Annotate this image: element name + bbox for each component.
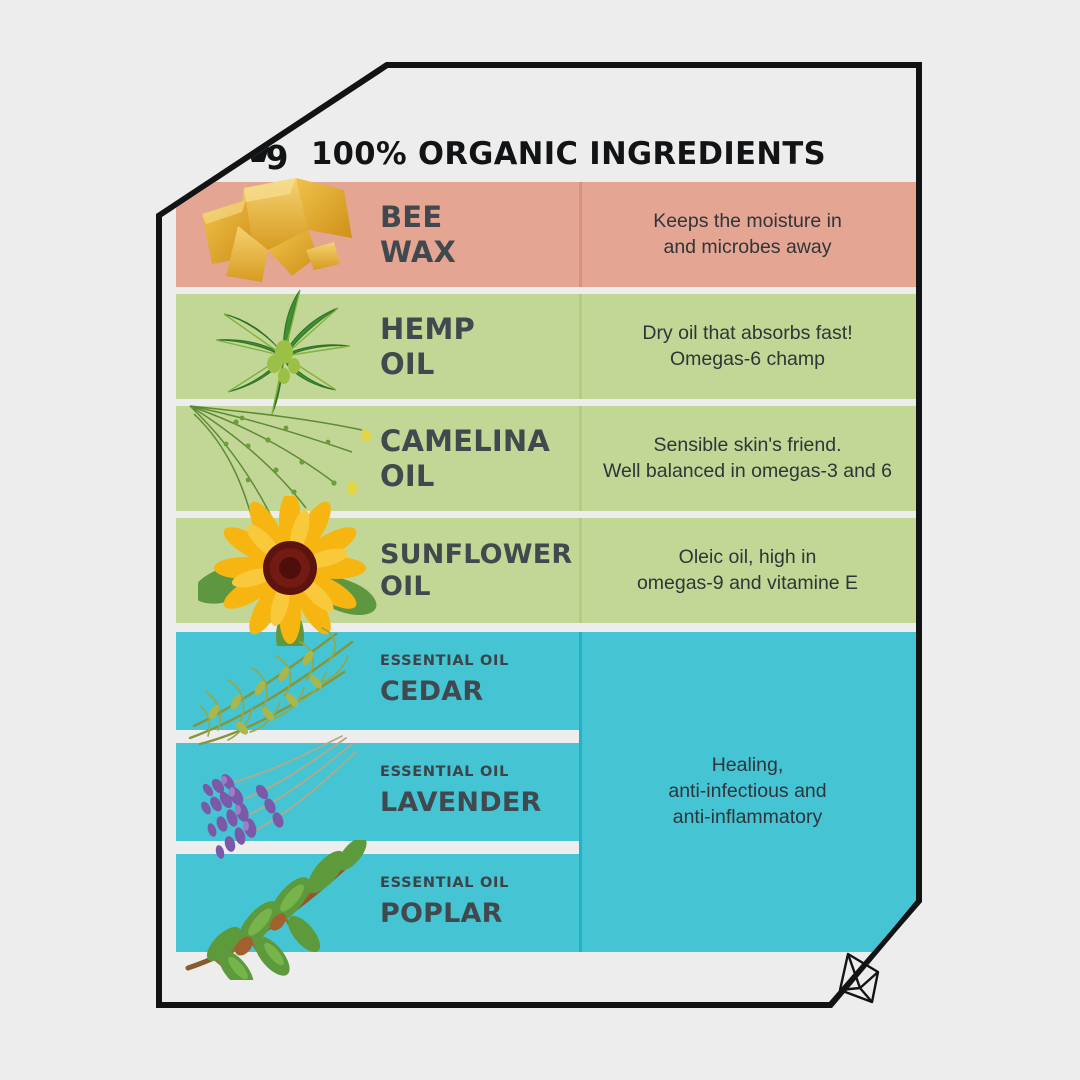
cedar-name-cell: ESSENTIAL OIL CEDAR bbox=[176, 632, 579, 730]
sunflower-oil-name-cell: SUNFLOWER OIL bbox=[176, 518, 579, 623]
bee-wax-label: BEE WAX bbox=[380, 200, 456, 268]
poplar-eyebrow: ESSENTIAL OIL bbox=[380, 876, 509, 891]
column-divider bbox=[579, 518, 582, 623]
column-divider bbox=[579, 182, 582, 287]
camelina-oil-label-line1: CAMELINA bbox=[380, 424, 550, 458]
hemp-oil-label-line1: HEMP bbox=[380, 312, 475, 346]
essential-oils-desc-line3: anti-inflammatory bbox=[668, 805, 826, 831]
bee-wax-label-line1: BEE bbox=[380, 200, 456, 234]
gem-polyhedron-logo bbox=[832, 950, 886, 1008]
hemp-oil-label-line2: OIL bbox=[380, 347, 475, 381]
hemp-oil-desc-line2: Omegas-6 champ bbox=[642, 347, 852, 373]
infographic-canvas: V 9 100% ORGANIC INGREDIENTS BEE WAX Kee… bbox=[0, 0, 1080, 1080]
cedar-label-group: ESSENTIAL OIL CEDAR bbox=[380, 654, 509, 707]
column-divider bbox=[579, 294, 582, 399]
lavender-eyebrow: ESSENTIAL OIL bbox=[380, 765, 541, 780]
cedar-eyebrow: ESSENTIAL OIL bbox=[380, 654, 509, 669]
camelina-oil-desc-cell: Sensible skin's friend. Well balanced in… bbox=[579, 406, 916, 511]
ingredient-row-cedar: ESSENTIAL OIL CEDAR bbox=[176, 632, 579, 730]
ingredient-row-camelina-oil: CAMELINA OIL Sensible skin's friend. Wel… bbox=[176, 406, 916, 511]
hemp-oil-desc-line1: Dry oil that absorbs fast! bbox=[642, 321, 852, 347]
ingredient-row-lavender: ESSENTIAL OIL LAVENDER bbox=[176, 743, 579, 841]
ingredients-card: V 9 100% ORGANIC INGREDIENTS BEE WAX Kee… bbox=[156, 62, 922, 1008]
ingredient-row-hemp-oil: HEMP OIL Dry oil that absorbs fast! Omeg… bbox=[176, 294, 916, 399]
bee-wax-label-line2: WAX bbox=[380, 235, 456, 269]
hemp-oil-label: HEMP OIL bbox=[380, 312, 475, 380]
hemp-oil-desc-cell: Dry oil that absorbs fast! Omegas-6 cham… bbox=[579, 294, 916, 399]
camelina-oil-description: Sensible skin's friend. Well balanced in… bbox=[603, 433, 892, 484]
essential-oils-description-panel: Healing, anti-infectious and anti-inflam… bbox=[579, 632, 916, 952]
bee-wax-name-cell: BEE WAX bbox=[176, 182, 579, 287]
poplar-label-group: ESSENTIAL OIL POPLAR bbox=[380, 876, 509, 929]
hemp-oil-name-cell: HEMP OIL bbox=[176, 294, 579, 399]
sunflower-oil-description: Oleic oil, high in omegas-9 and vitamine… bbox=[637, 545, 858, 596]
camelina-oil-label-line2: OIL bbox=[380, 459, 550, 493]
poplar-label: POPLAR bbox=[380, 898, 509, 930]
cedar-label: CEDAR bbox=[380, 676, 509, 708]
essential-oils-desc-line1: Healing, bbox=[668, 753, 826, 779]
ingredient-row-bee-wax: BEE WAX Keeps the moisture in and microb… bbox=[176, 182, 916, 287]
bee-wax-desc-cell: Keeps the moisture in and microbes away bbox=[579, 182, 916, 287]
sunflower-oil-label-line2: OIL bbox=[380, 571, 572, 603]
essential-oils-desc-line2: anti-infectious and bbox=[668, 779, 826, 805]
card-surface: V 9 100% ORGANIC INGREDIENTS BEE WAX Kee… bbox=[162, 68, 916, 1002]
column-divider bbox=[579, 632, 582, 952]
ingredient-row-poplar: ESSENTIAL OIL POPLAR bbox=[176, 854, 579, 952]
lavender-label: LAVENDER bbox=[380, 787, 541, 819]
hemp-oil-description: Dry oil that absorbs fast! Omegas-6 cham… bbox=[642, 321, 852, 372]
lavender-label-group: ESSENTIAL OIL LAVENDER bbox=[380, 765, 541, 818]
bee-wax-desc-line1: Keeps the moisture in bbox=[653, 209, 842, 235]
sunflower-oil-desc-line2: omegas-9 and vitamine E bbox=[637, 571, 858, 597]
camelina-oil-name-cell: CAMELINA OIL bbox=[176, 406, 579, 511]
sunflower-oil-desc-cell: Oleic oil, high in omegas-9 and vitamine… bbox=[579, 518, 916, 623]
camelina-oil-desc-line1: Sensible skin's friend. bbox=[603, 433, 892, 459]
sunflower-oil-desc-line1: Oleic oil, high in bbox=[637, 545, 858, 571]
sunflower-oil-label-line1: SUNFLOWER bbox=[380, 539, 572, 571]
camelina-oil-label: CAMELINA OIL bbox=[380, 424, 550, 492]
poplar-name-cell: ESSENTIAL OIL POPLAR bbox=[176, 854, 579, 952]
bee-wax-description: Keeps the moisture in and microbes away bbox=[653, 209, 842, 260]
lavender-name-cell: ESSENTIAL OIL LAVENDER bbox=[176, 743, 579, 841]
sunflower-oil-label: SUNFLOWER OIL bbox=[380, 539, 572, 603]
page-title: 100% ORGANIC INGREDIENTS bbox=[311, 136, 826, 176]
essential-oils-description: Healing, anti-infectious and anti-inflam… bbox=[668, 753, 826, 830]
bee-wax-desc-line2: and microbes away bbox=[653, 235, 842, 261]
camelina-oil-desc-line2: Well balanced in omegas-3 and 6 bbox=[603, 459, 892, 485]
ingredient-row-sunflower-oil: SUNFLOWER OIL Oleic oil, high in omegas-… bbox=[176, 518, 916, 623]
column-divider bbox=[579, 406, 582, 511]
